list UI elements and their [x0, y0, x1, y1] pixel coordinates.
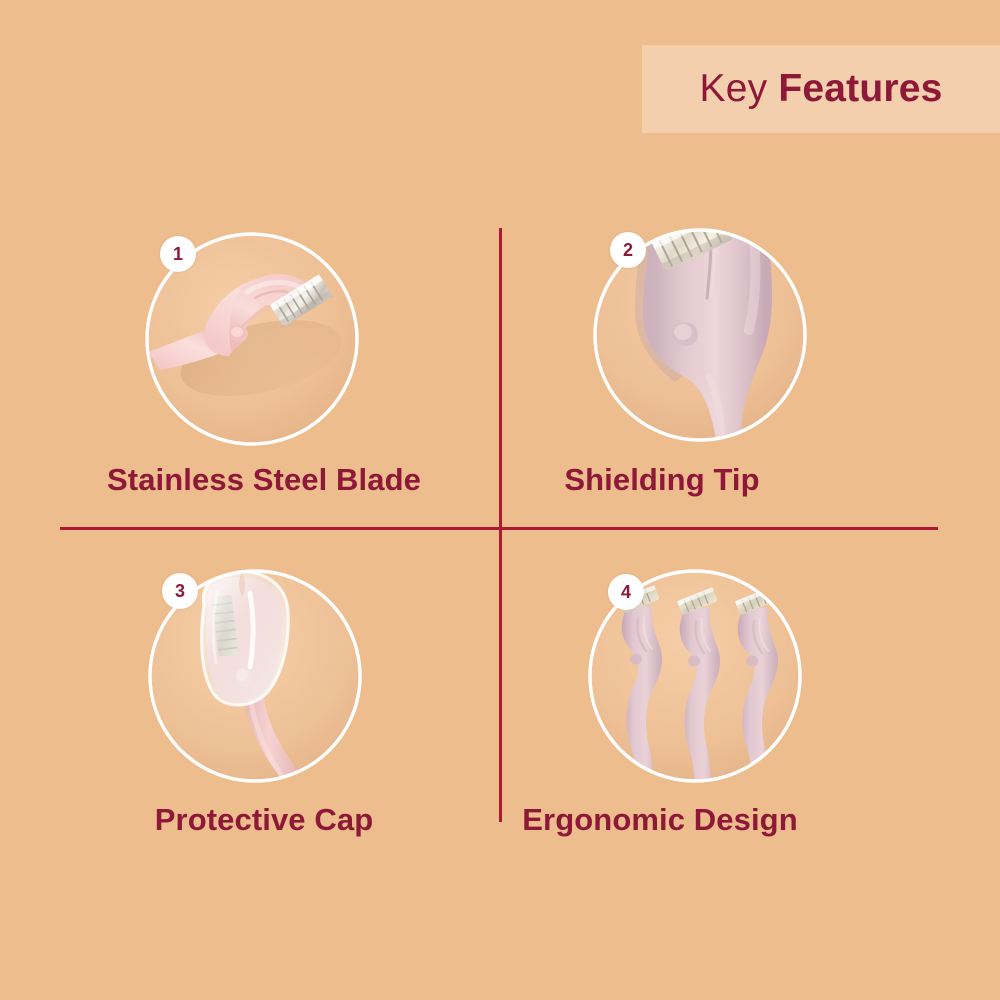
- feature-cell-2: 2 Shielding Tip: [500, 200, 1000, 580]
- feature-number-badge-4: 4: [608, 574, 644, 610]
- page-title-light: Key: [699, 67, 778, 110]
- feature-cell-4: 4 Ergonomic Design: [500, 540, 1000, 920]
- feature-cell-3: 3 Protective Cap: [0, 540, 500, 920]
- feature-label-2: Shielding Tip: [412, 462, 912, 498]
- page-title-bold: Features: [778, 67, 942, 110]
- key-features-infographic: Key Features: [0, 0, 1000, 1000]
- feature-number-badge-3: 3: [162, 573, 198, 609]
- header-banner: Key Features: [642, 45, 1000, 133]
- feature-number-badge-1: 1: [160, 236, 196, 272]
- feature-cell-1: 1 Stainless Steel Blade: [0, 200, 500, 580]
- feature-label-4: Ergonomic Design: [410, 802, 910, 838]
- feature-number-badge-2: 2: [610, 232, 646, 268]
- page-title: Key Features: [699, 67, 942, 111]
